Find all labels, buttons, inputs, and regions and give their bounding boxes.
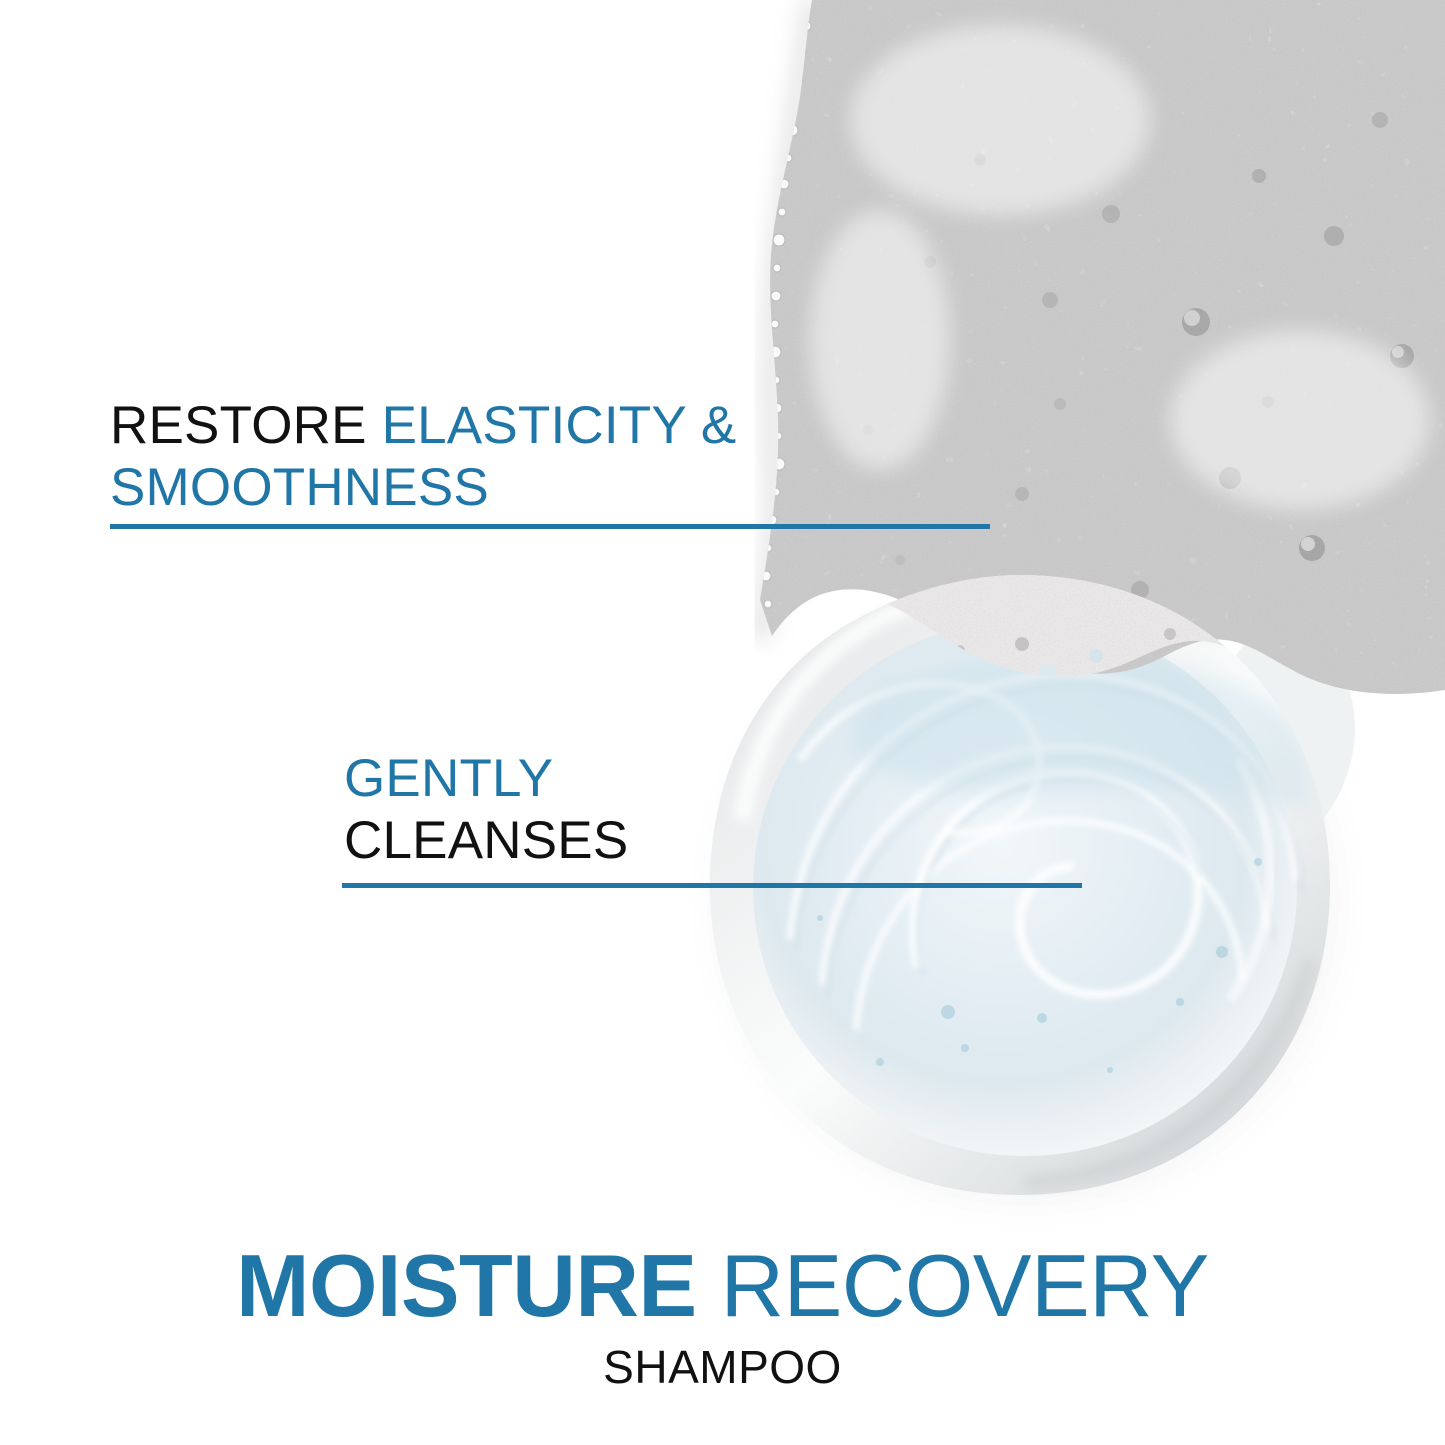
product-sub-name: SHAMPOO: [0, 1340, 1445, 1394]
product-marketing-image: RESTORE ELASTICITY & SMOOTHNESS GENTLY C…: [0, 0, 1445, 1445]
product-name-block: MOISTURE RECOVERY SHAMPOO: [0, 1238, 1445, 1394]
benefit-smoothness-word: SMOOTHNESS: [110, 457, 736, 519]
product-texture-illustration: [0, 0, 1445, 1445]
foam-over-gel: [700, 560, 1330, 751]
foam-group: [700, 0, 1445, 740]
product-name-recovery: RECOVERY: [697, 1236, 1209, 1335]
gel-dollop-group: [698, 560, 1358, 1225]
product-name-moisture: MOISTURE: [236, 1236, 696, 1335]
benefit-underline-restore: [110, 524, 990, 529]
benefit-line-1: RESTORE ELASTICITY &: [110, 395, 736, 457]
benefit-restore-word: RESTORE: [110, 396, 382, 455]
benefit-elasticity-word: ELASTICITY &: [382, 396, 737, 455]
benefit-underline-cleanses: [342, 883, 1082, 888]
product-name: MOISTURE RECOVERY: [0, 1238, 1445, 1334]
benefit-cleanses-word: CLEANSES: [344, 810, 628, 872]
benefit-callout-cleanses: GENTLY CLEANSES: [344, 748, 628, 872]
benefit-gently-word: GENTLY: [344, 748, 628, 810]
benefit-callout-restore: RESTORE ELASTICITY & SMOOTHNESS: [110, 395, 736, 519]
